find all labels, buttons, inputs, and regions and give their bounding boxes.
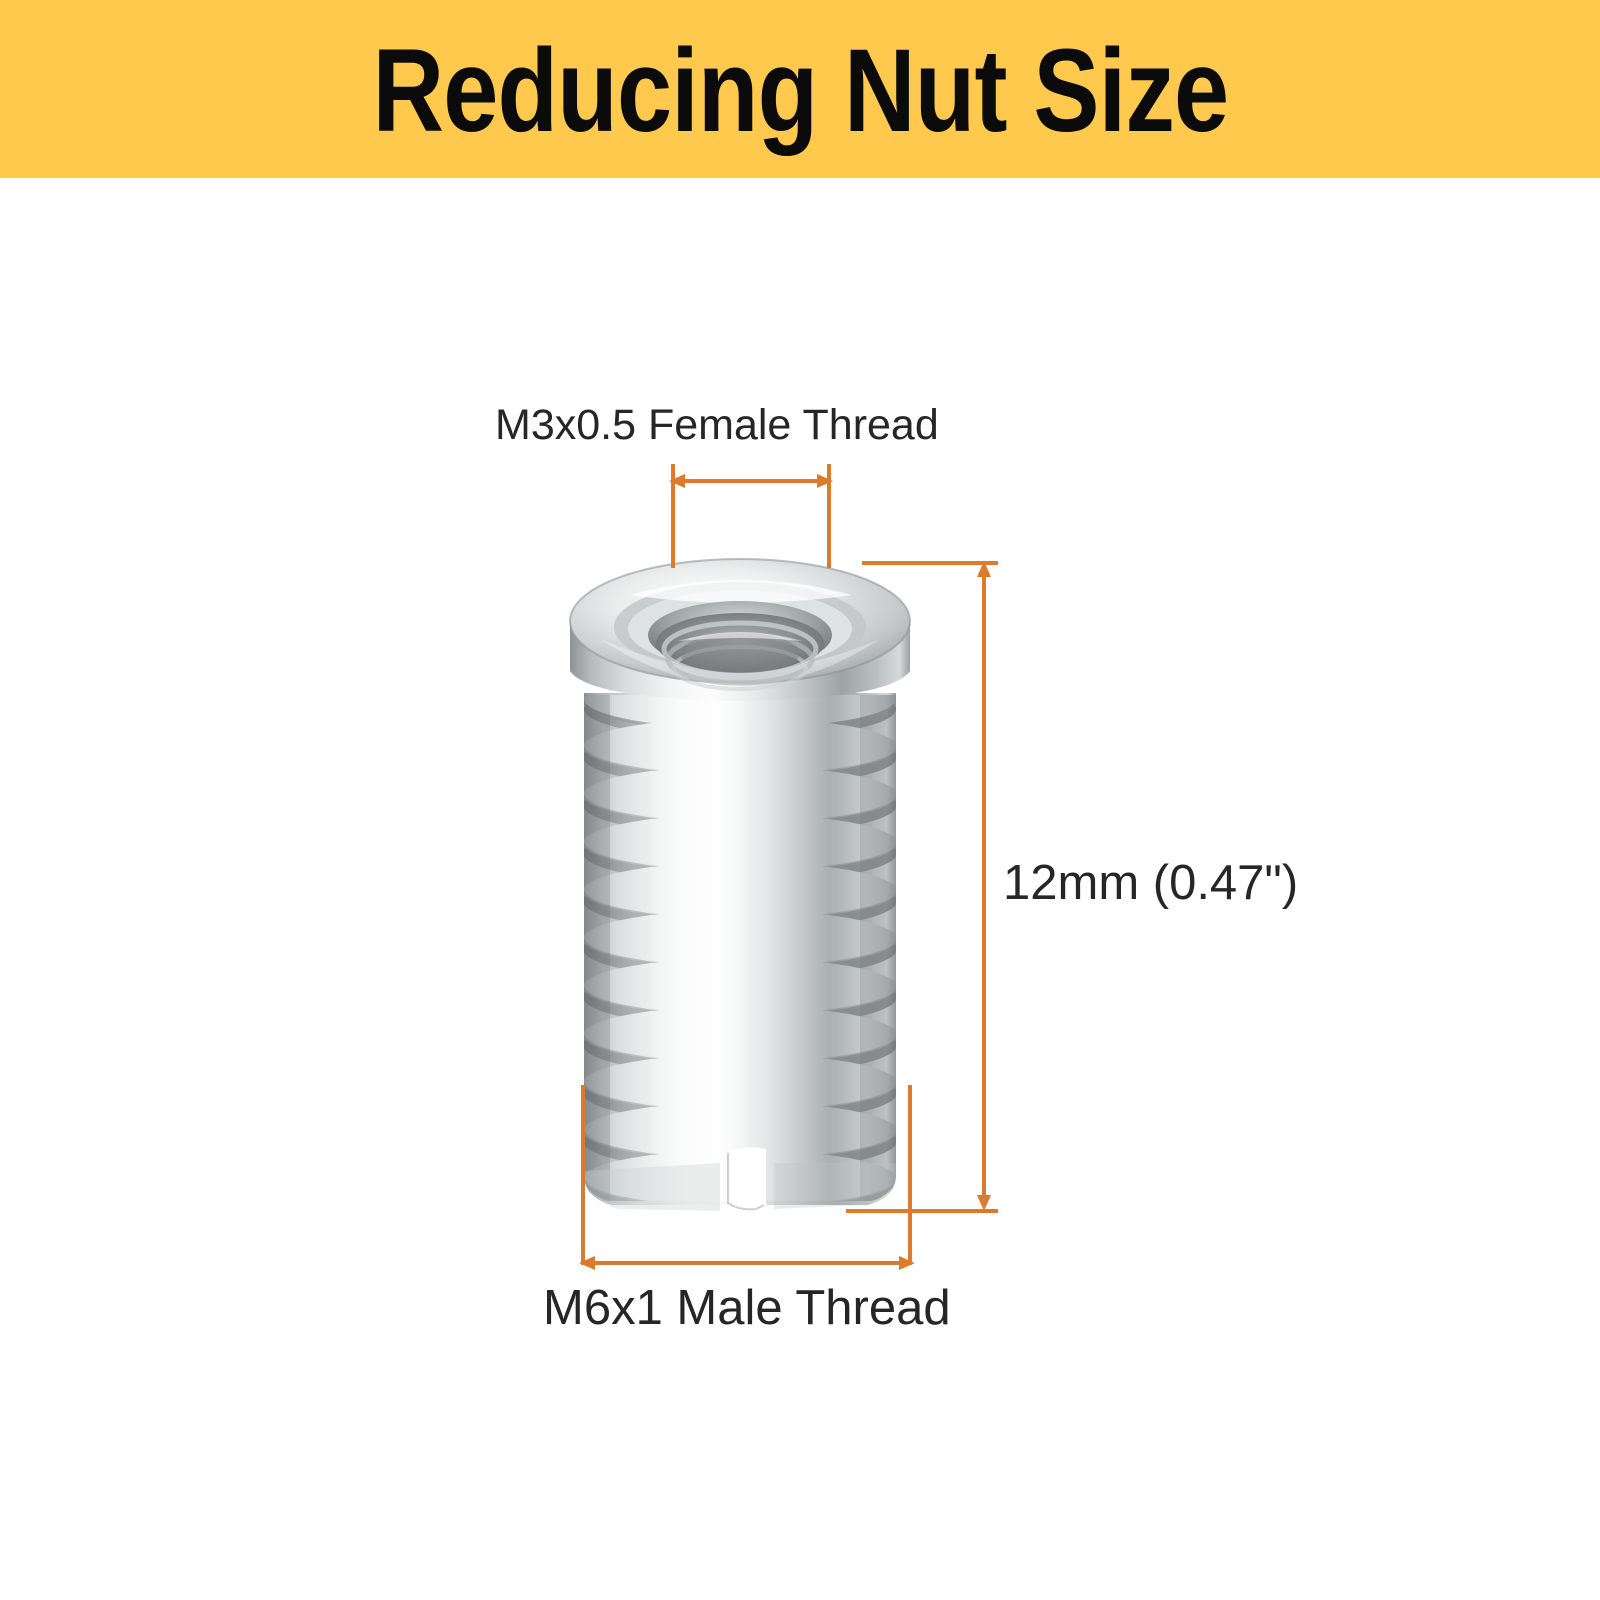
label-female-thread: M3x0.5 Female Thread <box>495 404 939 447</box>
female-dimension-arrow <box>665 468 837 494</box>
nut-bottom-slot <box>728 1147 766 1211</box>
page-title: Reducing Nut Size <box>372 32 1228 150</box>
label-male-thread: M6x1 Male Thread <box>543 1284 951 1333</box>
diagram-stage: M3x0.5 Female Thread 12mm (0.47") M6x1 M… <box>0 178 1600 1600</box>
female-thread-bore <box>648 601 832 689</box>
nut-threaded-body <box>583 670 897 1215</box>
male-extension-line-left <box>581 1085 585 1265</box>
nut-top-flange <box>570 559 910 701</box>
product-dimension-diagram: Reducing Nut Size <box>0 0 1600 1600</box>
male-dimension-arrow <box>575 1250 919 1276</box>
header-band: Reducing Nut Size <box>0 0 1600 178</box>
label-overall-length: 12mm (0.47") <box>1003 859 1298 908</box>
length-dimension-arrow <box>971 557 997 1215</box>
reducing-nut-illustration <box>560 503 920 1215</box>
male-extension-line-right <box>908 1085 912 1265</box>
